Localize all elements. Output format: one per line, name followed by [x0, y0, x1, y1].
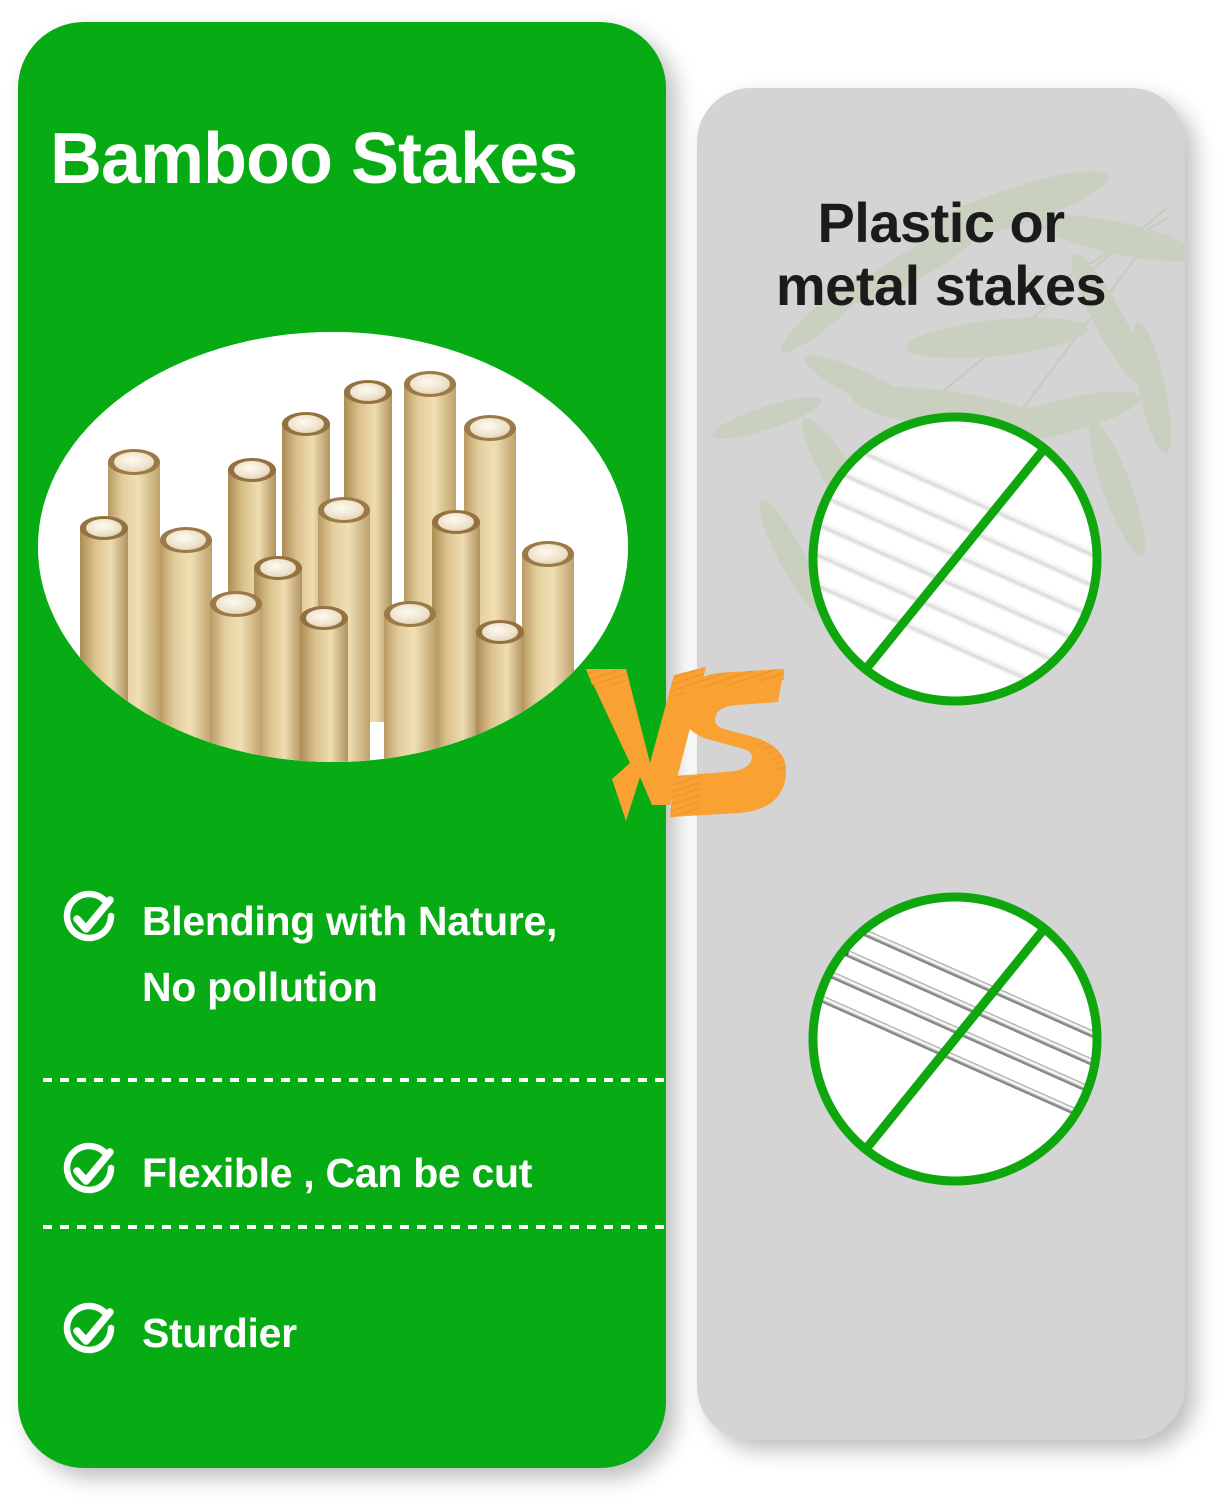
right-panel-title: Plastic or metal stakes [697, 192, 1185, 317]
feature-item: Sturdier [60, 1300, 660, 1366]
plastic-stakes-prohibited [805, 409, 1105, 709]
feature-divider [43, 1078, 666, 1082]
vs-badge [578, 645, 808, 845]
feature-label: Flexible , Can be cut [142, 1140, 532, 1206]
right-panel-title-line2: metal stakes [776, 254, 1106, 317]
bamboo-stakes-photo [38, 332, 628, 762]
metal-stakes-prohibited [805, 889, 1105, 1189]
left-panel-title: Bamboo Stakes [50, 118, 577, 200]
right-panel-title-line1: Plastic or [817, 191, 1064, 254]
feature-label: Sturdier [142, 1300, 297, 1366]
check-circle-icon [60, 1142, 118, 1200]
feature-divider [43, 1225, 666, 1229]
check-circle-icon [60, 1302, 118, 1360]
feature-item: Flexible , Can be cut [60, 1140, 660, 1206]
feature-item: Blending with Nature,No pollution [60, 888, 660, 1021]
check-circle-icon [60, 890, 118, 948]
feature-label: Blending with Nature,No pollution [142, 888, 557, 1021]
product-panel-left: Bamboo Stakes [18, 22, 666, 1468]
